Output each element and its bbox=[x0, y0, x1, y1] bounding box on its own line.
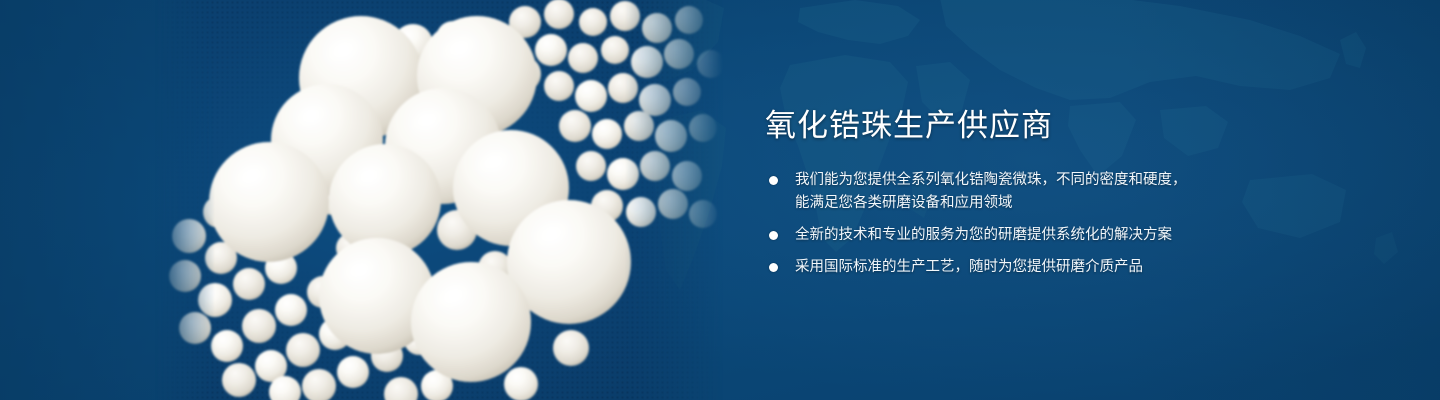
product-photo-zirconia-beads bbox=[155, 0, 725, 400]
list-item-line: 我们能为您提供全系列氧化锆陶瓷微珠，不同的密度和硬度， bbox=[795, 169, 1187, 192]
list-item-line: 全新的技术和专业的服务为您的研磨提供系统化的解决方案 bbox=[795, 224, 1187, 247]
list-item: 全新的技术和专业的服务为您的研磨提供系统化的解决方案 bbox=[767, 224, 1187, 247]
list-item: 采用国际标准的生产工艺，随时为您提供研磨介质产品 bbox=[767, 256, 1187, 279]
bullet-dot-icon bbox=[769, 231, 778, 240]
banner-content: 氧化锆珠生产供应商 我们能为您提供全系列氧化锆陶瓷微珠，不同的密度和硬度， 能满… bbox=[765, 0, 1385, 400]
hero-banner: 氧化锆珠生产供应商 我们能为您提供全系列氧化锆陶瓷微珠，不同的密度和硬度， 能满… bbox=[0, 0, 1440, 400]
feature-list: 我们能为您提供全系列氧化锆陶瓷微珠，不同的密度和硬度， 能满足您各类研磨设备和应… bbox=[767, 169, 1187, 279]
list-item-line: 能满足您各类研磨设备和应用领域 bbox=[795, 192, 1187, 215]
bead-cluster bbox=[155, 0, 725, 400]
list-item: 我们能为您提供全系列氧化锆陶瓷微珠，不同的密度和硬度， 能满足您各类研磨设备和应… bbox=[767, 169, 1187, 215]
bullet-dot-icon bbox=[769, 263, 778, 272]
bullet-dot-icon bbox=[769, 176, 778, 185]
page-title: 氧化锆珠生产供应商 bbox=[765, 110, 1053, 141]
list-item-line: 采用国际标准的生产工艺，随时为您提供研磨介质产品 bbox=[795, 256, 1187, 279]
